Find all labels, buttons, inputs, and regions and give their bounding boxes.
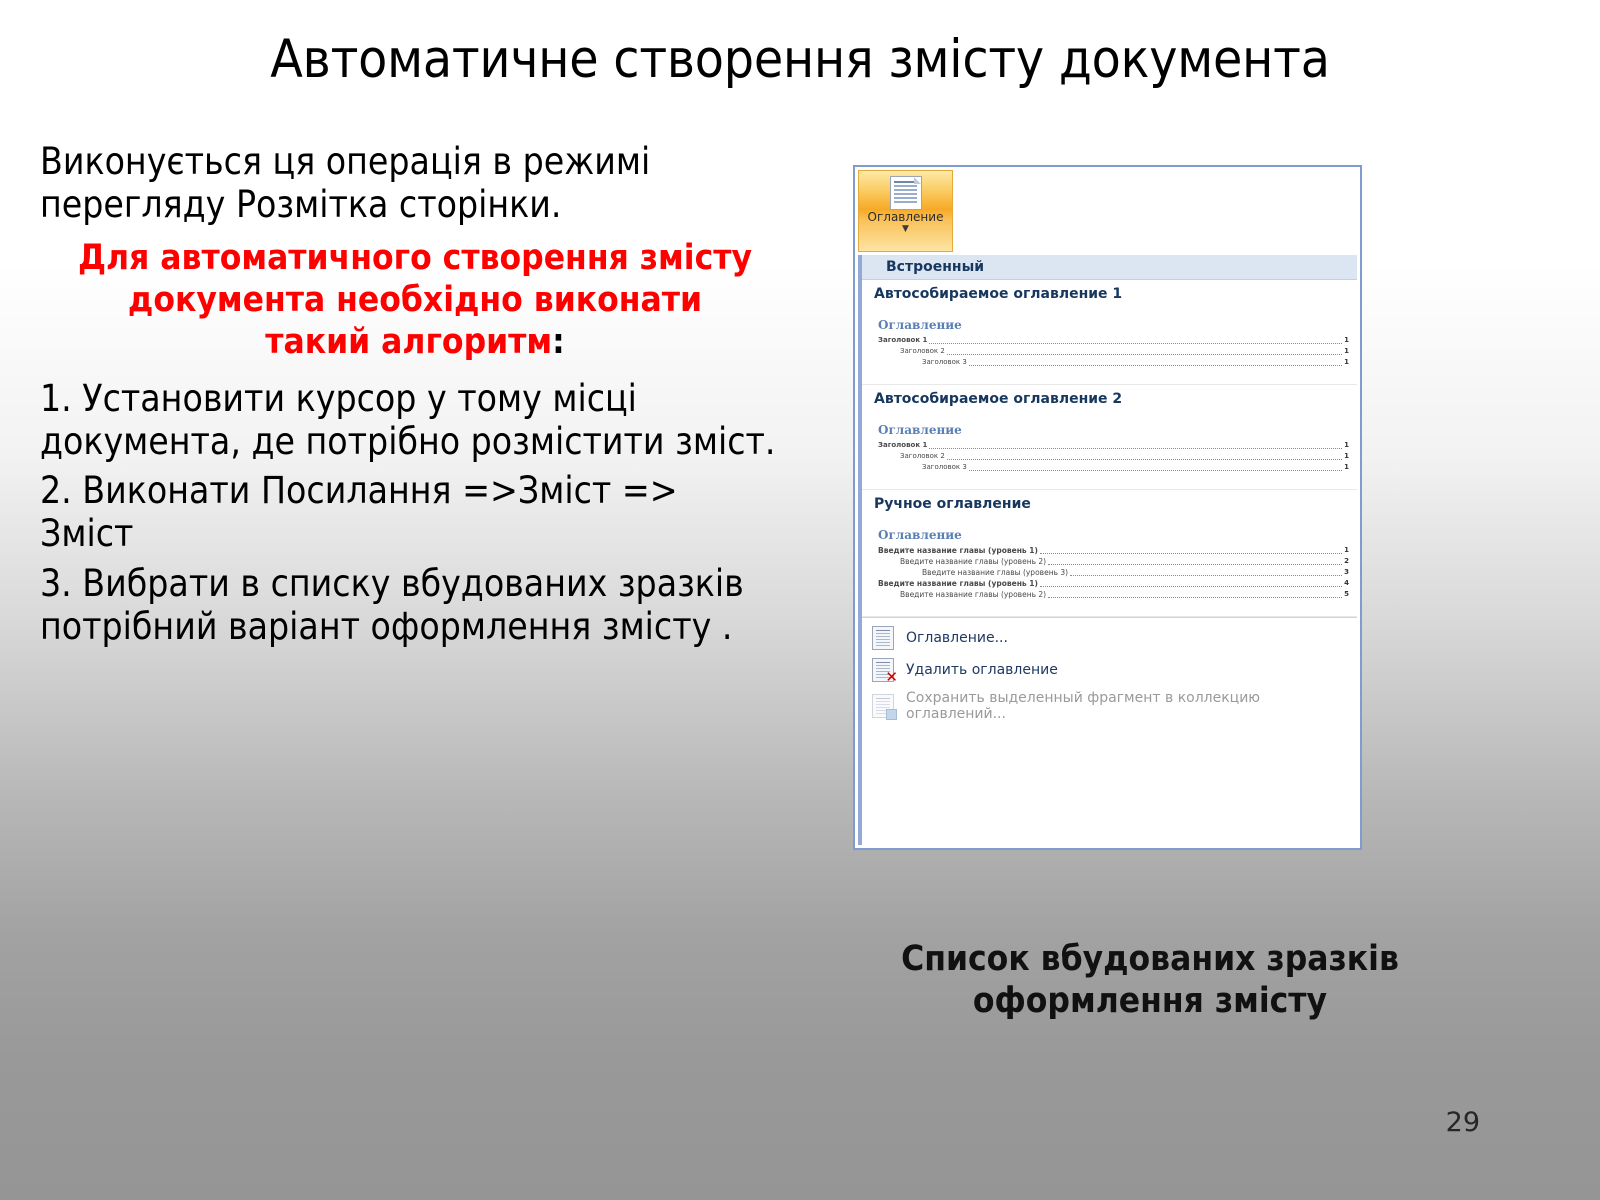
toc-entry-page: 1 xyxy=(1344,545,1349,556)
menu-item-label: Удалить оглавление xyxy=(906,662,1058,678)
step-2: 2. Виконати Посилання =>Зміст => Зміст xyxy=(40,469,780,556)
toc-entry-page: 1 xyxy=(1344,346,1349,357)
table-of-contents-icon xyxy=(890,176,922,210)
toc-entry-text: Заголовок 2 xyxy=(900,451,945,462)
toc-ribbon-button[interactable]: Оглавление ▼ xyxy=(858,170,953,252)
toc-entry-text: Введите название главы (уровень 2) xyxy=(900,556,1046,567)
menu-item-insert-toc[interactable]: Оглавление... xyxy=(862,622,1357,654)
dot-leader xyxy=(969,463,1342,471)
toc-entry-page: 1 xyxy=(1344,462,1349,473)
dot-leader xyxy=(947,452,1342,460)
dot-leader xyxy=(1040,546,1342,554)
toc-entry-text: Заголовок 3 xyxy=(922,462,967,473)
toc-entry: Введите название главы (уровень 1)4 xyxy=(878,578,1349,589)
intro-paragraph: Виконується ця операція в режимі перегля… xyxy=(40,140,780,227)
toc-entry-page: 1 xyxy=(1344,335,1349,346)
toc-entry: Заголовок 21 xyxy=(878,451,1349,462)
highlight-text: Для автоматичного створення змісту докум… xyxy=(78,238,752,362)
gallery-command-list: Оглавление... ✕ Удалить оглавление Сохра… xyxy=(862,617,1357,726)
step-3: 3. Вибрати в списку вбудованих зразків п… xyxy=(40,562,780,649)
toc-entry-text: Заголовок 1 xyxy=(878,335,927,346)
menu-item-label: Сохранить выделенный фрагмент в коллекци… xyxy=(906,690,1357,722)
toc-entry-page: 2 xyxy=(1344,556,1349,567)
dot-leader xyxy=(1070,568,1342,576)
dot-leader xyxy=(1048,590,1342,598)
dot-leader xyxy=(947,347,1342,355)
dot-leader xyxy=(969,358,1342,366)
gallery-item-title: Ручное оглавление xyxy=(862,490,1357,518)
toc-preview: Оглавление Заголовок 11 Заголовок 21 Заг… xyxy=(862,413,1357,489)
toc-entry: Введите название главы (уровень 2)5 xyxy=(878,589,1349,600)
toc-preview-heading: Оглавление xyxy=(878,318,1349,332)
toc-entry-text: Введите название главы (уровень 2) xyxy=(900,589,1046,600)
gallery-item-manual-toc[interactable]: Ручное оглавление Оглавление Введите наз… xyxy=(862,490,1357,617)
toc-entry: Введите название главы (уровень 1)1 xyxy=(878,545,1349,556)
toc-entry: Заголовок 21 xyxy=(878,346,1349,357)
gallery-item-title: Автособираемое оглавление 1 xyxy=(862,280,1357,308)
save-badge xyxy=(886,709,897,720)
toc-preview-heading: Оглавление xyxy=(878,528,1349,542)
toc-entry-text: Заголовок 2 xyxy=(900,346,945,357)
toc-entry-text: Введите название главы (уровень 1) xyxy=(878,578,1038,589)
toc-entry-page: 4 xyxy=(1344,578,1349,589)
toc-entry: Введите название главы (уровень 3)3 xyxy=(878,567,1349,578)
menu-item-label: Оглавление... xyxy=(906,630,1008,646)
toc-gallery-dropdown: Встроенный Автособираемое оглавление 1 О… xyxy=(858,255,1357,845)
gallery-item-title: Автособираемое оглавление 2 xyxy=(862,385,1357,413)
toc-entry: Заголовок 31 xyxy=(878,462,1349,473)
toc-preview: Оглавление Введите название главы (урове… xyxy=(862,518,1357,616)
toc-preview-heading: Оглавление xyxy=(878,423,1349,437)
highlight-colon: : xyxy=(552,322,565,362)
toc-entry-page: 3 xyxy=(1344,567,1349,578)
dot-leader xyxy=(929,441,1342,449)
toc-entry-text: Заголовок 1 xyxy=(878,440,927,451)
toc-entry-text: Введите название главы (уровень 3) xyxy=(922,567,1068,578)
menu-item-save-selection-to-toc-gallery: Сохранить выделенный фрагмент в коллекци… xyxy=(862,686,1357,726)
dot-leader xyxy=(1048,557,1342,565)
slide-number: 29 xyxy=(1446,1107,1480,1138)
toc-save-icon xyxy=(872,694,894,718)
chevron-down-icon: ▼ xyxy=(859,225,952,234)
toc-insert-icon xyxy=(872,626,894,650)
gallery-group-header: Встроенный xyxy=(862,255,1357,280)
dot-leader xyxy=(1040,579,1342,587)
toc-entry-page: 1 xyxy=(1344,451,1349,462)
slide-body-text: Виконується ця операція в режимі перегля… xyxy=(40,140,780,654)
gallery-item-autotoc2[interactable]: Автособираемое оглавление 2 Оглавление З… xyxy=(862,385,1357,490)
toc-entry: Введите название главы (уровень 2)2 xyxy=(878,556,1349,567)
gallery-caption: Список вбудованих зразків оформлення змі… xyxy=(790,938,1510,1022)
menu-item-delete-toc[interactable]: ✕ Удалить оглавление xyxy=(862,654,1357,686)
toc-entry-page: 5 xyxy=(1344,589,1349,600)
page-title: Автоматичне створення змісту документа xyxy=(60,32,1540,88)
toc-preview: Оглавление Заголовок 11 Заголовок 21 Заг… xyxy=(862,308,1357,384)
toc-entry-page: 1 xyxy=(1344,357,1349,368)
toc-entry: Заголовок 11 xyxy=(878,335,1349,346)
toc-entry: Заголовок 11 xyxy=(878,440,1349,451)
gallery-item-autotoc1[interactable]: Автособираемое оглавление 1 Оглавление З… xyxy=(862,280,1357,385)
word-toc-gallery-screenshot: Оглавление ▼ Встроенный Автособираемое о… xyxy=(853,165,1362,850)
toc-entry-text: Введите название главы (уровень 1) xyxy=(878,545,1038,556)
highlight-paragraph: Для автоматичного створення змісту докум… xyxy=(70,237,760,363)
toc-entry-page: 1 xyxy=(1344,440,1349,451)
toc-delete-icon: ✕ xyxy=(872,658,894,682)
toc-ribbon-button-label: Оглавление xyxy=(859,211,952,224)
toc-entry-text: Заголовок 3 xyxy=(922,357,967,368)
dot-leader xyxy=(929,336,1342,344)
step-1: 1. Установити курсор у тому місці докуме… xyxy=(40,377,780,464)
toc-entry: Заголовок 31 xyxy=(878,357,1349,368)
delete-x-badge: ✕ xyxy=(885,670,898,685)
